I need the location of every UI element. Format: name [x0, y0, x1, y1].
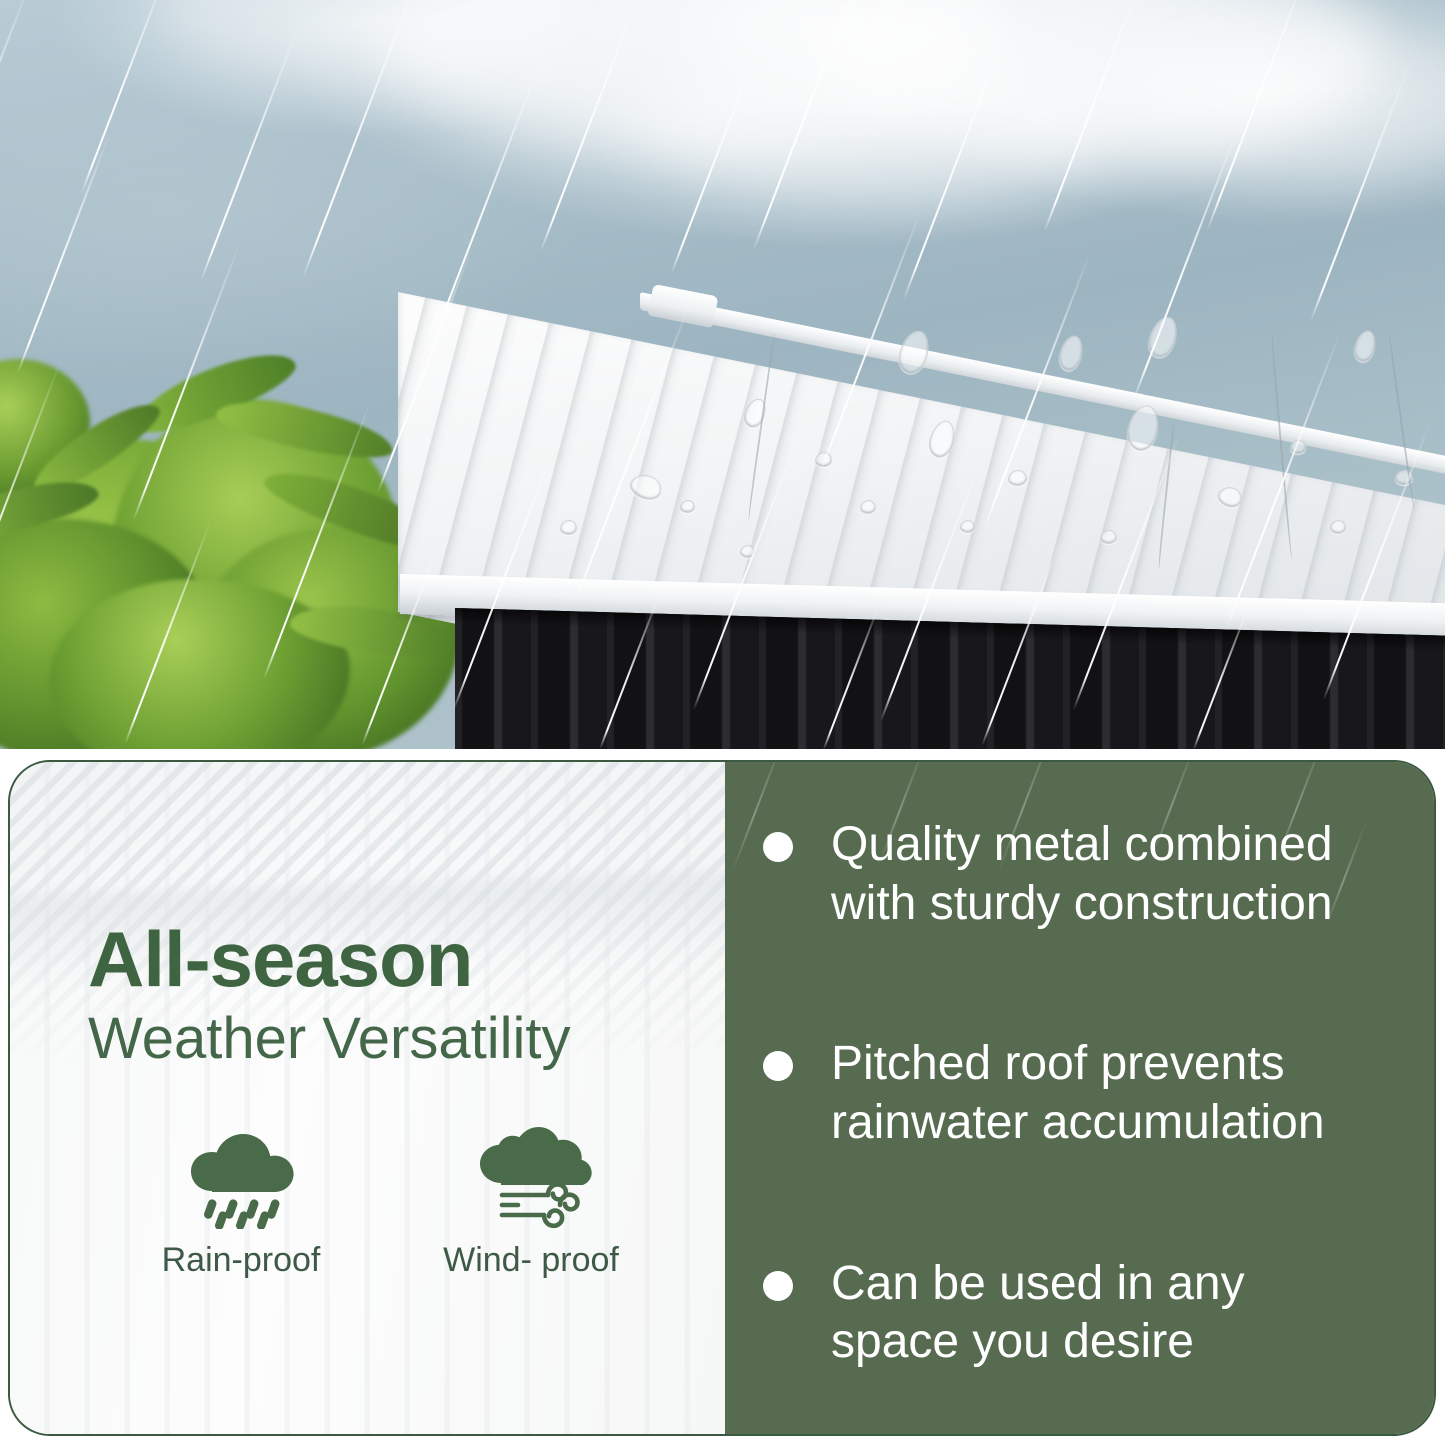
list-item: Quality metal combined with sturdy const…: [755, 816, 1386, 933]
wind-cloud-icon: [386, 1125, 676, 1229]
card-right-panel: Quality metal combined with sturdy const…: [725, 762, 1434, 1434]
feature-label: Rain-proof: [96, 1241, 386, 1280]
water-droplet: [1330, 520, 1346, 534]
bullet-dot-icon: [763, 1051, 793, 1081]
feature-icon-row: Rain-proof: [88, 1125, 725, 1280]
bullet-text: Pitched roof prevents rainwater accumula…: [831, 1035, 1386, 1152]
water-droplet: [1056, 333, 1085, 373]
water-droplet: [960, 520, 975, 533]
bullet-text: Can be used in any space you desire: [831, 1255, 1386, 1372]
water-droplet: [895, 327, 933, 376]
feature-label: Wind- proof: [386, 1241, 676, 1280]
water-droplet: [1100, 530, 1117, 544]
water-droplet: [860, 500, 876, 514]
list-item: Can be used in any space you desire: [755, 1255, 1386, 1372]
feature-card: All-season Weather Versatility: [8, 760, 1436, 1436]
page-subtitle: Weather Versatility: [88, 1008, 725, 1071]
water-droplet: [560, 520, 577, 535]
list-item: Pitched roof prevents rainwater accumula…: [755, 1035, 1386, 1152]
water-droplet: [1008, 470, 1027, 486]
bullet-dot-icon: [763, 1271, 793, 1301]
water-droplet: [680, 500, 695, 513]
page-title: All-season: [88, 920, 725, 998]
water-droplet: [1352, 328, 1378, 363]
product-photo: [0, 0, 1445, 749]
water-droplet: [740, 545, 755, 558]
product-feature-banner: All-season Weather Versatility: [0, 0, 1445, 1445]
metal-shed: [0, 0, 1445, 749]
roof-ridge-cap: [648, 284, 719, 328]
feature-rain-proof: Rain-proof: [96, 1125, 386, 1280]
water-droplet: [1290, 440, 1306, 454]
bullet-dot-icon: [763, 832, 793, 862]
water-droplet: [815, 452, 832, 467]
bullet-text: Quality metal combined with sturdy const…: [831, 816, 1386, 933]
card-left-panel: All-season Weather Versatility: [10, 762, 725, 1434]
water-droplet: [1145, 313, 1182, 361]
rain-cloud-icon: [96, 1125, 386, 1229]
feature-wind-proof: Wind- proof: [386, 1125, 676, 1280]
